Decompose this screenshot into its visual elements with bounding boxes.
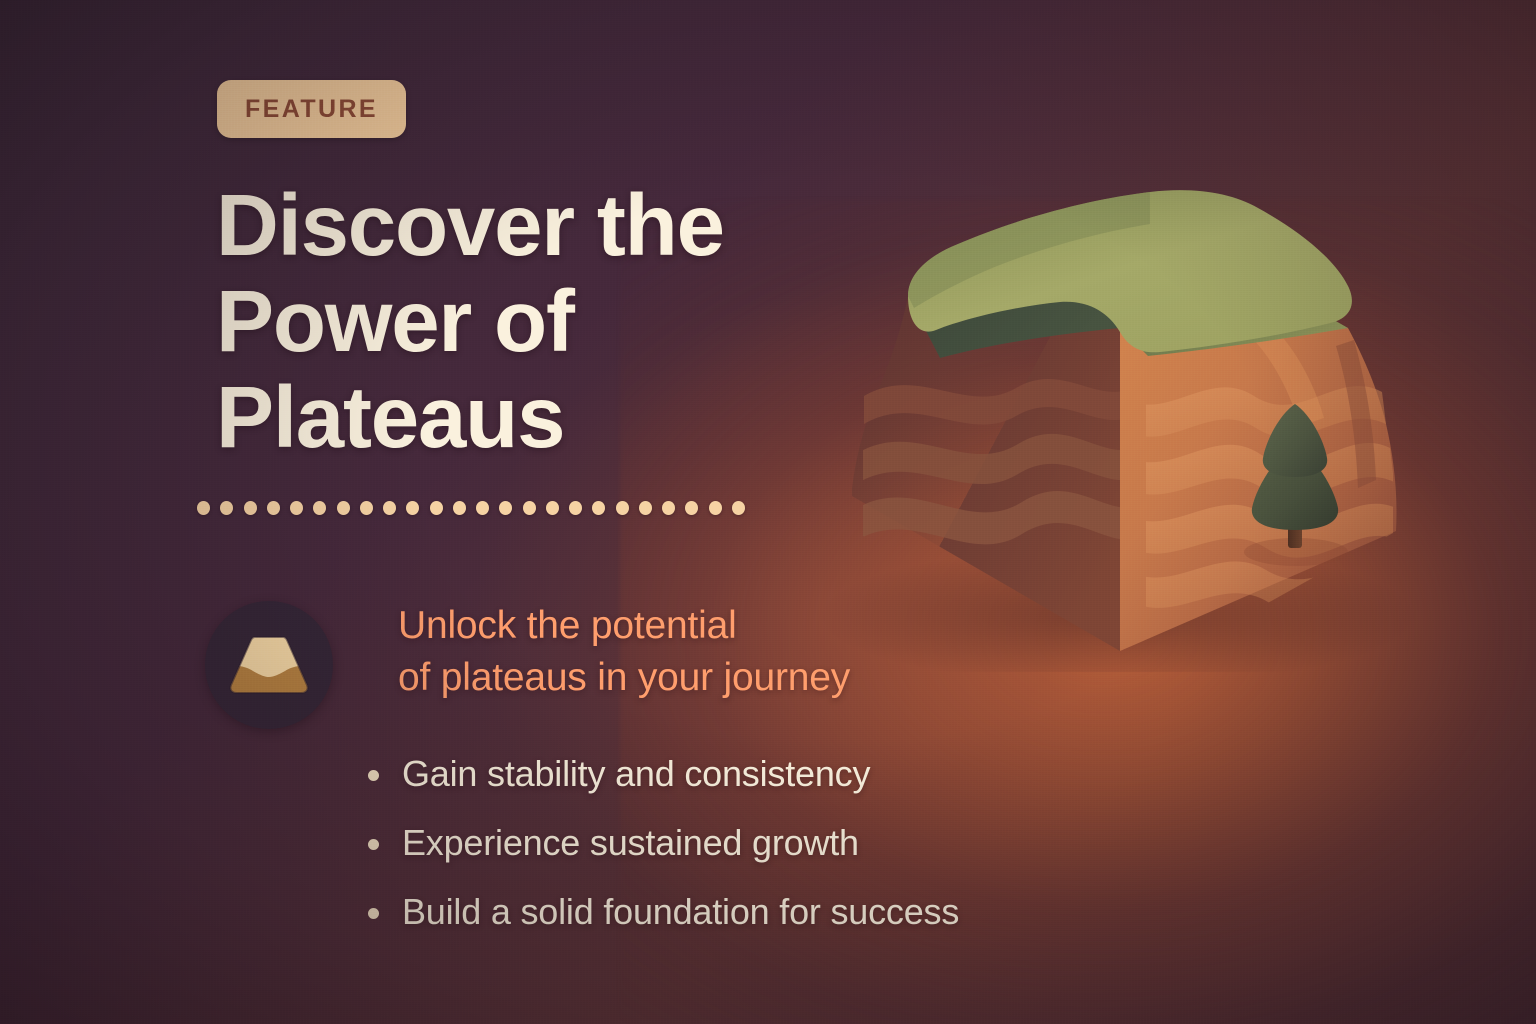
background-vignette: [0, 0, 1536, 1024]
feature-card-canvas: FEATURE Discover the Power of Plateaus: [0, 0, 1536, 1024]
